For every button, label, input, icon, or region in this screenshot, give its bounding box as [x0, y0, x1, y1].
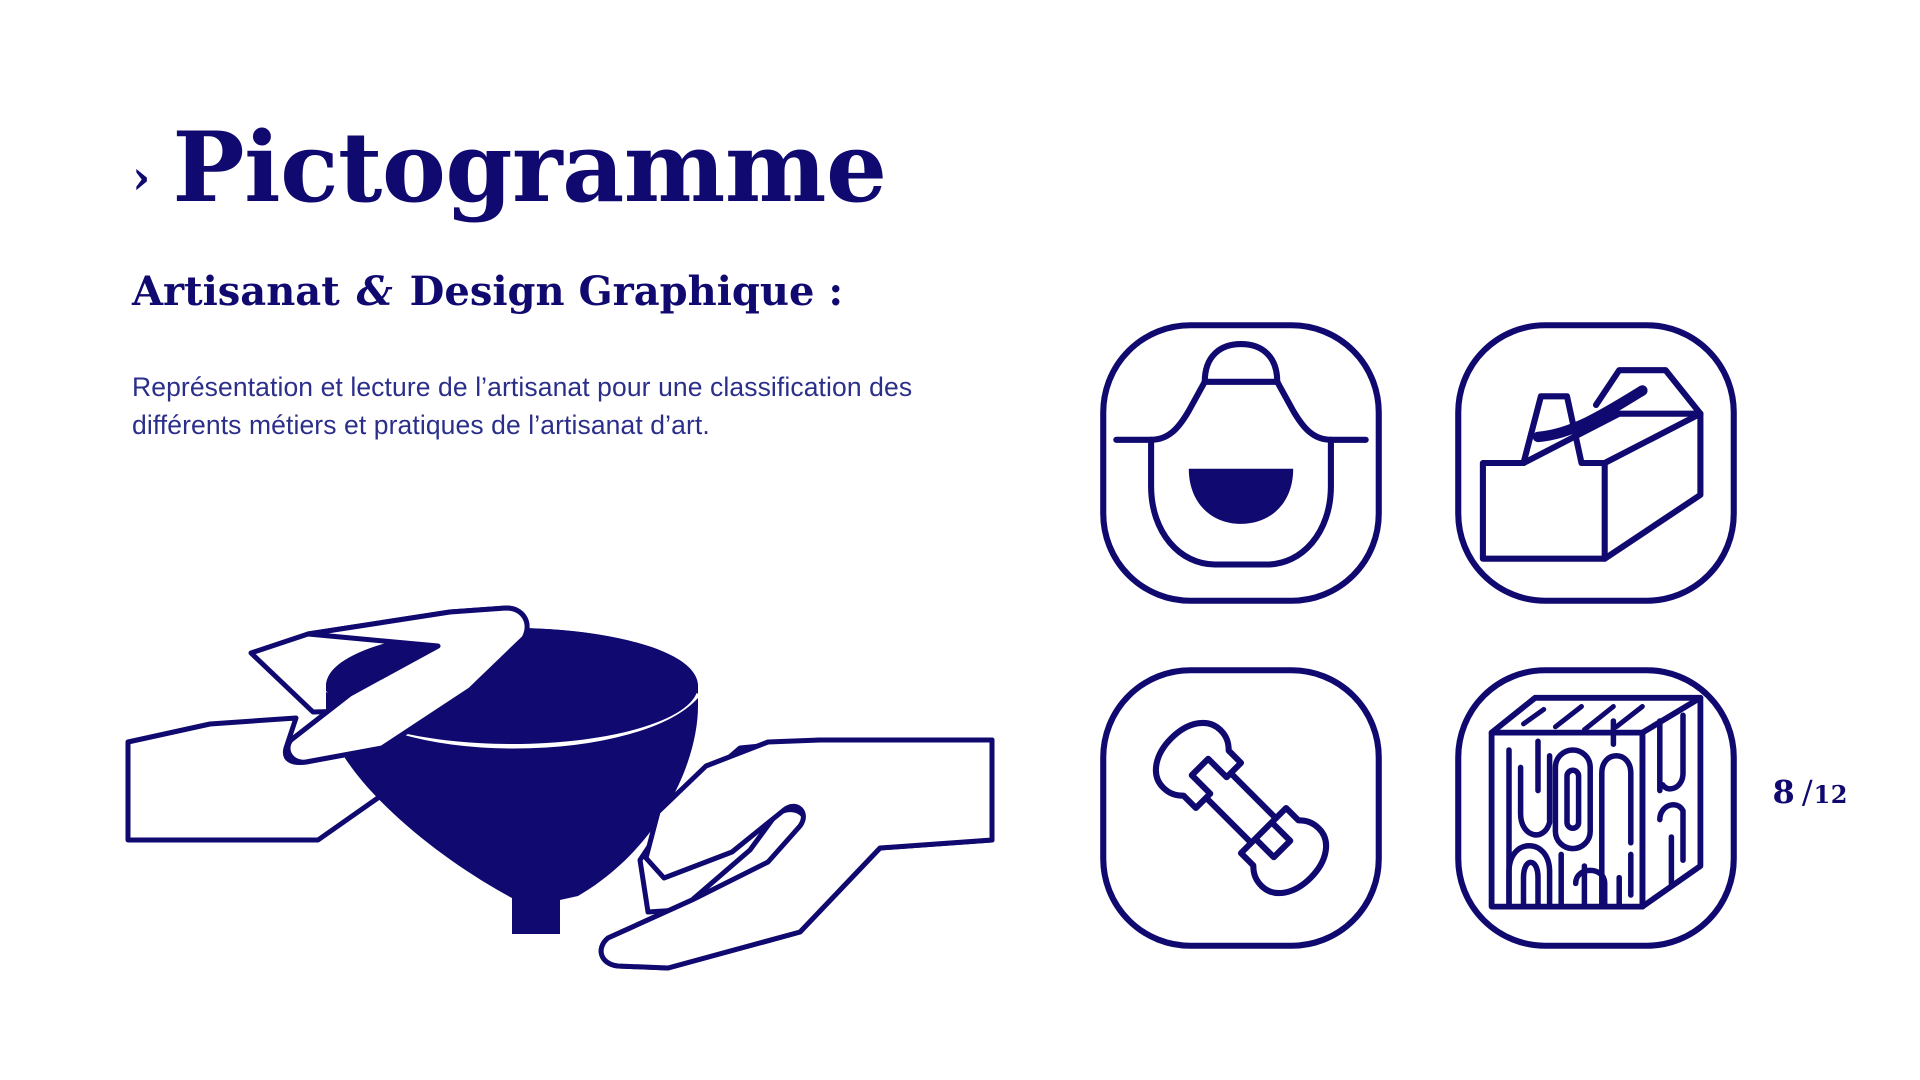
page-number-separator: / [1795, 776, 1814, 808]
apron-icon [1096, 318, 1386, 608]
toolbox-top-edge [1605, 414, 1701, 463]
apron-pocket [1189, 469, 1293, 524]
subtitle-part-before: Artisanat [132, 268, 354, 315]
page-number-indicator: 8 / 12 [1773, 776, 1848, 808]
pictogram-card-apron[interactable] [1096, 318, 1386, 608]
toolbox-side-face [1596, 370, 1700, 559]
pictogram-card-wood-block[interactable] [1451, 663, 1741, 953]
wood-side-grain [1660, 715, 1683, 883]
wood-front-grain [1509, 721, 1631, 907]
chevron-right-icon: › [132, 154, 150, 200]
page-title-row: › Pictogramme [132, 120, 992, 216]
subtitle-part-after: Design Graphique : [396, 268, 843, 315]
wrench-icon [1096, 663, 1386, 953]
pictogram-card-wrench[interactable] [1096, 663, 1386, 953]
left-content-column: › Pictogramme Artisanat & Design Graphiq… [132, 120, 992, 444]
pictogram-card-toolbox[interactable] [1451, 318, 1741, 608]
pictogram-grid [1096, 318, 1741, 953]
ampersand-glyph: & [354, 268, 396, 315]
page-title: Pictogramme [172, 120, 886, 216]
body-paragraph: Représentation et lecture de l’artisanat… [132, 368, 932, 444]
apron-card-frame [1103, 325, 1379, 601]
toolbox-icon [1451, 318, 1741, 608]
wood-block-icon [1451, 663, 1741, 953]
wrench-body [1143, 710, 1340, 907]
wood-top-right-edge [1642, 698, 1700, 733]
page-subtitle: Artisanat & Design Graphique : [132, 270, 992, 314]
total-page-number: 12 [1814, 783, 1848, 807]
wood-top-grain [1524, 707, 1643, 730]
apron-neck-loop [1205, 344, 1278, 382]
hands-holding-bowl-illustration [120, 590, 1000, 990]
wrench-card-frame [1103, 670, 1379, 946]
current-page-number: 8 [1773, 776, 1795, 808]
slide: › Pictogramme Artisanat & Design Graphiq… [0, 0, 1920, 1080]
hands-holding-bowl-svg [120, 590, 1000, 990]
apron-straps [1151, 382, 1331, 440]
